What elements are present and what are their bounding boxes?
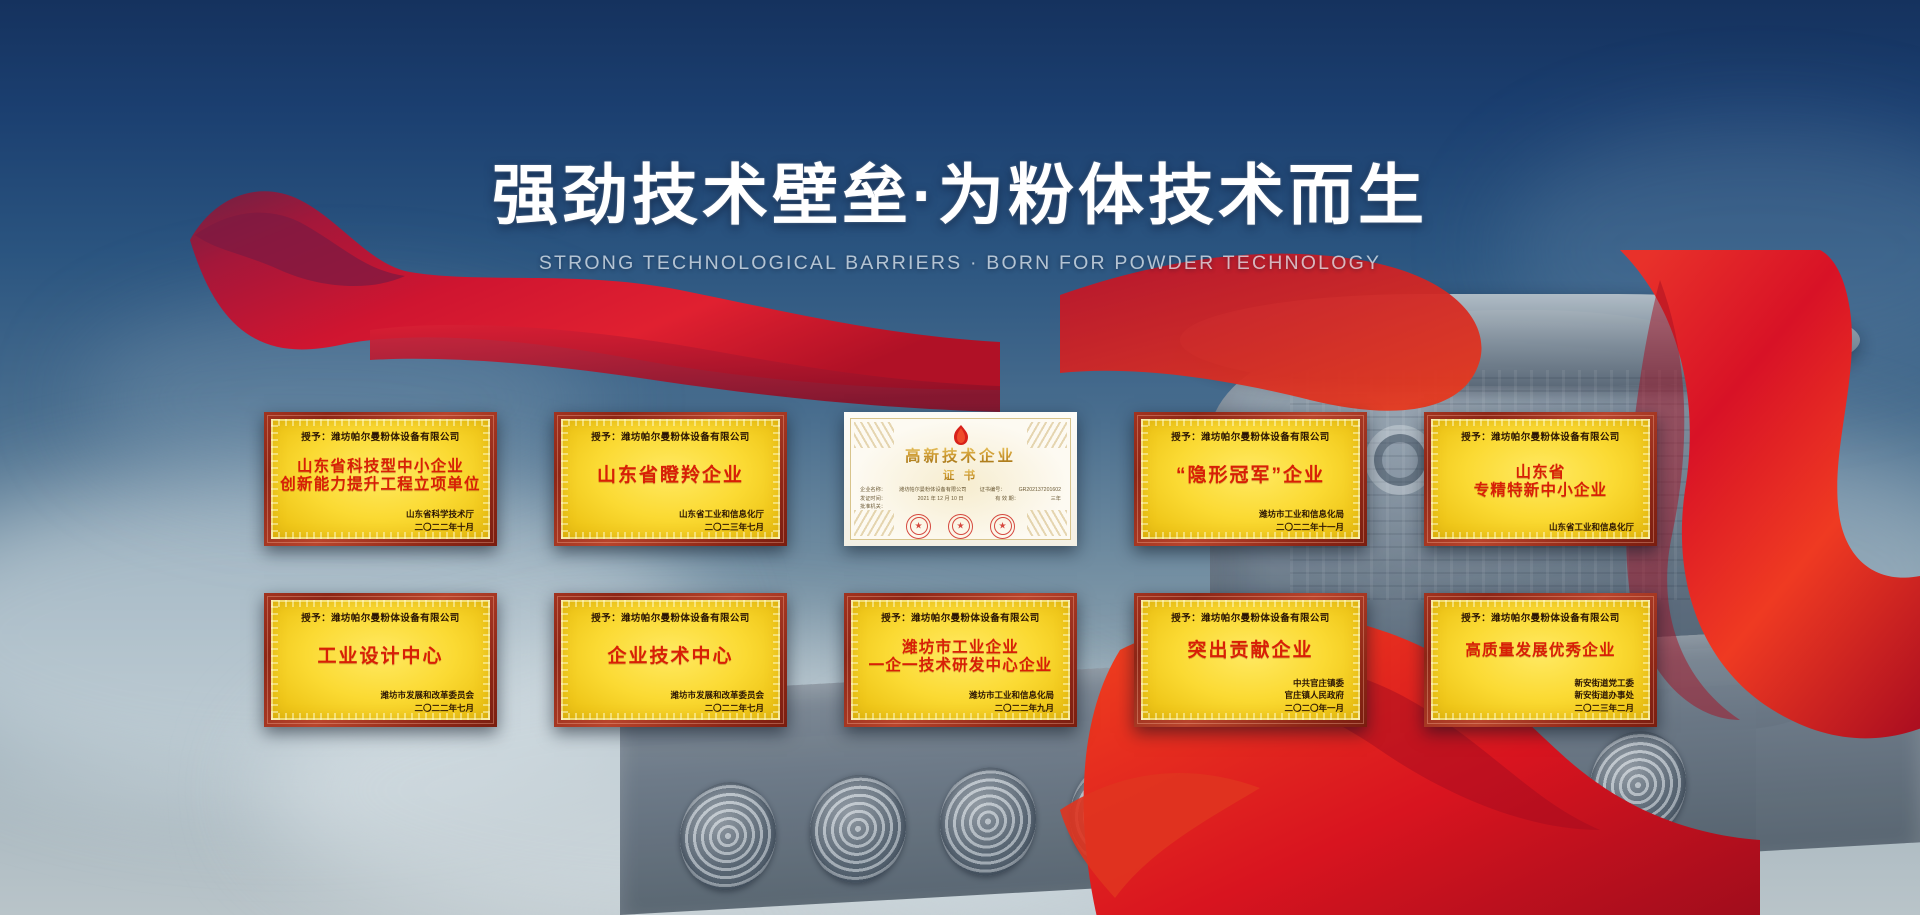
medallion-icon <box>1590 729 1686 842</box>
certificate-company-label: 企业名称： <box>860 486 886 495</box>
award-plaque-grid: 授予：潍坊帕尔曼粉体设备有限公司 山东省科技型中小企业 创新能力提升工程立项单位… <box>264 412 1664 727</box>
plaque-issuer-date: 二〇二二年十月 <box>283 521 474 533</box>
red-seal-icon: ★ <box>990 514 1015 539</box>
plaque-issuer: 新安街道党工委 新安街道办事处 二〇二三年二月 <box>1443 677 1638 714</box>
seal-star-glyph: ★ <box>914 522 922 531</box>
plaque-issuer: 潍坊市工业和信息化局 二〇二二年十一月 <box>1153 508 1348 533</box>
plaque-title-line: 山东省瞪羚企业 <box>597 465 744 486</box>
plaque-issuer-line: 山东省工业和信息化厅 <box>573 508 764 520</box>
wheat-ornament-icon <box>854 422 894 448</box>
red-seal-icon: ★ <box>948 514 973 539</box>
certificate-field-row: 企业名称： 潍坊帕尔曼粉体设备有限公司 证书编号： GR202137201602 <box>860 486 1061 495</box>
plaque-issuer: 中共官庄镇委 官庄镇人民政府 二〇二〇年一月 <box>1153 677 1348 714</box>
plaque-issuer-line: 新安街道办事处 <box>1443 689 1634 701</box>
plaque-awardee: 授予：潍坊帕尔曼粉体设备有限公司 <box>1443 610 1638 624</box>
award-plaque[interactable]: 授予：潍坊帕尔曼粉体设备有限公司 工业设计中心 潍坊市发展和改革委员会 二〇二二… <box>264 593 497 727</box>
plaque-issuer-date: 二〇二二年七月 <box>573 702 764 714</box>
plaque-plate: 授予：潍坊帕尔曼粉体设备有限公司 山东省瞪羚企业 山东省工业和信息化厅 二〇二三… <box>561 419 780 539</box>
award-plaque[interactable]: 授予：潍坊帕尔曼粉体设备有限公司 潍坊市工业企业 一企一技术研发中心企业 潍坊市… <box>844 593 1077 727</box>
wheat-ornament-icon <box>1027 510 1067 536</box>
certificate-company-value: 潍坊帕尔曼粉体设备有限公司 <box>899 486 966 495</box>
wheat-ornament-icon <box>1027 422 1067 448</box>
medallion-icon <box>810 772 906 885</box>
plaque-awardee: 授予：潍坊帕尔曼粉体设备有限公司 <box>573 610 768 624</box>
medallion-icon <box>1460 736 1556 849</box>
plaque-title: 企业技术中心 <box>573 624 768 689</box>
certificate-fields: 企业名称： 潍坊帕尔曼粉体设备有限公司 证书编号： GR202137201602… <box>851 483 1070 512</box>
page-subtitle: STRONG TECHNOLOGICAL BARRIERS · BORN FOR… <box>0 252 1920 275</box>
award-plaque[interactable]: 授予：潍坊帕尔曼粉体设备有限公司 企业技术中心 潍坊市发展和改革委员会 二〇二二… <box>554 593 787 727</box>
plaque-plate: 授予：潍坊帕尔曼粉体设备有限公司 工业设计中心 潍坊市发展和改革委员会 二〇二二… <box>271 600 490 720</box>
certificate-validity-value: 三年 <box>1051 495 1061 504</box>
plaque-title-line: 企业技术中心 <box>607 646 733 667</box>
plaque-issuer-line: 潍坊市发展和改革委员会 <box>283 689 474 701</box>
award-plaque[interactable]: 授予：潍坊帕尔曼粉体设备有限公司 山东省科技型中小企业 创新能力提升工程立项单位… <box>264 412 497 546</box>
plaque-issuer-line: 山东省科学技术厅 <box>283 508 474 520</box>
medallion-icon <box>1070 758 1166 871</box>
certificate-heading: 高新技术企业 <box>905 444 1016 466</box>
plaque-title-line: 山东省科技型中小企业 <box>297 458 464 475</box>
plaque-title: 山东省瞪羚企业 <box>573 443 768 508</box>
plaque-title-line: 专精特新中小企业 <box>1474 482 1608 499</box>
ding-rim <box>1180 294 1860 386</box>
plaque-plate: 授予：潍坊帕尔曼粉体设备有限公司 潍坊市工业企业 一企一技术研发中心企业 潍坊市… <box>851 600 1070 720</box>
plaque-awardee: 授予：潍坊帕尔曼粉体设备有限公司 <box>863 610 1058 624</box>
award-plaque[interactable]: 授予：潍坊帕尔曼粉体设备有限公司 高质量发展优秀企业 新安街道党工委 新安街道办… <box>1424 593 1657 727</box>
plaque-title-line: 潍坊市工业企业 <box>902 639 1019 656</box>
plaque-issuer-line: 中共官庄镇委 <box>1153 677 1344 689</box>
plaque-issuer-line: 官庄镇人民政府 <box>1153 689 1344 701</box>
plaque-title-line: 一企一技术研发中心企业 <box>869 657 1053 674</box>
certificate-issue-date-label: 发证时间： <box>860 495 886 504</box>
plaque-issuer: 山东省科学技术厅 二〇二二年十月 <box>283 508 478 533</box>
plaque-row-1: 授予：潍坊帕尔曼粉体设备有限公司 山东省科技型中小企业 创新能力提升工程立项单位… <box>264 412 1664 546</box>
plaque-plate: 授予：潍坊帕尔曼粉体设备有限公司 “隐形冠军”企业 潍坊市工业和信息化局 二〇二… <box>1141 419 1360 539</box>
certificate-seal-row: ★ ★ ★ <box>906 514 1015 539</box>
award-plaque[interactable]: 授予：潍坊帕尔曼粉体设备有限公司 山东省 专精特新中小企业 山东省工业和信息化厅 <box>1424 412 1657 546</box>
plaque-plate: 授予：潍坊帕尔曼粉体设备有限公司 突出贡献企业 中共官庄镇委 官庄镇人民政府 二… <box>1141 600 1360 720</box>
plaque-awardee: 授予：潍坊帕尔曼粉体设备有限公司 <box>283 610 478 624</box>
plaque-issuer: 潍坊市发展和改革委员会 二〇二二年七月 <box>573 689 768 714</box>
plaque-title-line: 突出贡献企业 <box>1187 640 1313 661</box>
plaque-title-line: 高质量发展优秀企业 <box>1465 642 1615 659</box>
certificate-validity-label: 有 效 期： <box>995 495 1019 504</box>
medallion-icon <box>1200 750 1296 863</box>
plaque-issuer: 潍坊市发展和改革委员会 二〇二二年七月 <box>283 689 478 714</box>
medallion-icon <box>1330 743 1426 856</box>
plaque-awardee: 授予：潍坊帕尔曼粉体设备有限公司 <box>573 429 768 443</box>
plaque-issuer-line: 潍坊市工业和信息化局 <box>863 689 1054 701</box>
plaque-plate: 授予：潍坊帕尔曼粉体设备有限公司 高质量发展优秀企业 新安街道党工委 新安街道办… <box>1431 600 1650 720</box>
certificate-inner: 高新技术企业 证 书 企业名称： 潍坊帕尔曼粉体设备有限公司 证书编号： GR2… <box>850 418 1071 540</box>
plaque-issuer-date: 二〇二三年七月 <box>573 521 764 533</box>
certificate-issue-date-value: 2021 年 12 月 10 日 <box>918 495 964 504</box>
plaque-issuer: 潍坊市工业和信息化局 二〇二二年九月 <box>863 689 1058 714</box>
certificate-number-value: GR202137201602 <box>1019 486 1061 495</box>
plaque-awardee: 授予：潍坊帕尔曼粉体设备有限公司 <box>1153 610 1348 624</box>
red-seal-icon: ★ <box>906 514 931 539</box>
plaque-plate: 授予：潍坊帕尔曼粉体设备有限公司 山东省 专精特新中小企业 山东省工业和信息化厅 <box>1431 419 1650 539</box>
plaque-issuer-date: 二〇二〇年一月 <box>1153 702 1344 714</box>
plaque-issuer: 山东省工业和信息化厅 <box>1443 521 1638 533</box>
award-plaque[interactable]: 授予：潍坊帕尔曼粉体设备有限公司 “隐形冠军”企业 潍坊市工业和信息化局 二〇二… <box>1134 412 1367 546</box>
plaque-issuer-line: 潍坊市发展和改革委员会 <box>573 689 764 701</box>
certificate-subheading: 证 书 <box>943 467 978 483</box>
medallion-icon <box>940 765 1036 878</box>
medallion-icon <box>680 779 776 892</box>
plaque-awardee: 授予：潍坊帕尔曼粉体设备有限公司 <box>283 429 478 443</box>
plaque-plate: 授予：潍坊帕尔曼粉体设备有限公司 山东省科技型中小企业 创新能力提升工程立项单位… <box>271 419 490 539</box>
plaque-issuer-date: 二〇二二年九月 <box>863 702 1054 714</box>
plaque-title: 山东省 专精特新中小企业 <box>1443 443 1638 521</box>
flame-logo-icon <box>948 424 974 446</box>
plaque-issuer-line: 潍坊市工业和信息化局 <box>1153 508 1344 520</box>
seal-star-glyph: ★ <box>956 522 964 531</box>
high-tech-enterprise-certificate[interactable]: 高新技术企业 证 书 企业名称： 潍坊帕尔曼粉体设备有限公司 证书编号： GR2… <box>844 412 1077 546</box>
certificate-number-label: 证书编号： <box>980 486 1006 495</box>
plaque-issuer-date: 二〇二二年七月 <box>283 702 474 714</box>
plaque-row-2: 授予：潍坊帕尔曼粉体设备有限公司 工业设计中心 潍坊市发展和改革委员会 二〇二二… <box>264 593 1664 727</box>
award-plaque[interactable]: 授予：潍坊帕尔曼粉体设备有限公司 突出贡献企业 中共官庄镇委 官庄镇人民政府 二… <box>1134 593 1367 727</box>
plaque-title: 高质量发展优秀企业 <box>1443 624 1638 677</box>
headline-block: 强劲技术壁垒·为粉体技术而生 STRONG TECHNOLOGICAL BARR… <box>0 162 1920 275</box>
plaque-awardee: 授予：潍坊帕尔曼粉体设备有限公司 <box>1153 429 1348 443</box>
plaque-title: 潍坊市工业企业 一企一技术研发中心企业 <box>863 624 1058 689</box>
page-title: 强劲技术壁垒·为粉体技术而生 <box>0 162 1920 228</box>
plaque-title-line: 创新能力提升工程立项单位 <box>280 476 480 493</box>
plaque-awardee: 授予：潍坊帕尔曼粉体设备有限公司 <box>1443 429 1638 443</box>
plaque-issuer: 山东省工业和信息化厅 二〇二三年七月 <box>573 508 768 533</box>
plaque-title-line: 工业设计中心 <box>317 646 443 667</box>
plaque-plate: 授予：潍坊帕尔曼粉体设备有限公司 企业技术中心 潍坊市发展和改革委员会 二〇二二… <box>561 600 780 720</box>
seal-star-glyph: ★ <box>998 522 1006 531</box>
plaque-title: 山东省科技型中小企业 创新能力提升工程立项单位 <box>283 443 478 508</box>
plaque-title-line: 山东省 <box>1515 464 1565 481</box>
plaque-title: 突出贡献企业 <box>1153 624 1348 677</box>
plaque-title-line: “隐形冠军”企业 <box>1176 465 1325 486</box>
plaque-issuer-date: 二〇二二年十一月 <box>1153 521 1344 533</box>
plaque-title: “隐形冠军”企业 <box>1153 443 1348 508</box>
promo-banner: 强劲技术壁垒·为粉体技术而生 STRONG TECHNOLOGICAL BARR… <box>0 0 1920 915</box>
award-plaque[interactable]: 授予：潍坊帕尔曼粉体设备有限公司 山东省瞪羚企业 山东省工业和信息化厅 二〇二三… <box>554 412 787 546</box>
plaque-title: 工业设计中心 <box>283 624 478 689</box>
plaque-issuer-date: 二〇二三年二月 <box>1443 702 1634 714</box>
plaque-issuer-line: 山东省工业和信息化厅 <box>1443 521 1634 533</box>
plaque-issuer-line: 新安街道党工委 <box>1443 677 1634 689</box>
certificate-field-row: 发证时间： 2021 年 12 月 10 日 有 效 期： 三年 <box>860 495 1061 504</box>
wheat-ornament-icon <box>854 510 894 536</box>
